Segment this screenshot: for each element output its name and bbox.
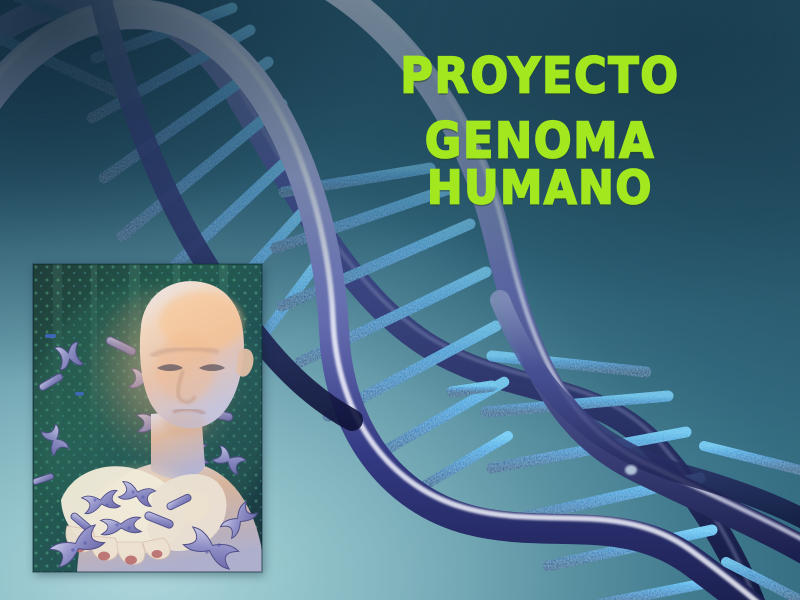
presentation-slide: PROYECTO GENOMA HUMANO bbox=[0, 0, 800, 600]
human-genome-chromosomes-photo bbox=[33, 264, 262, 572]
inset-illustration bbox=[33, 264, 262, 572]
